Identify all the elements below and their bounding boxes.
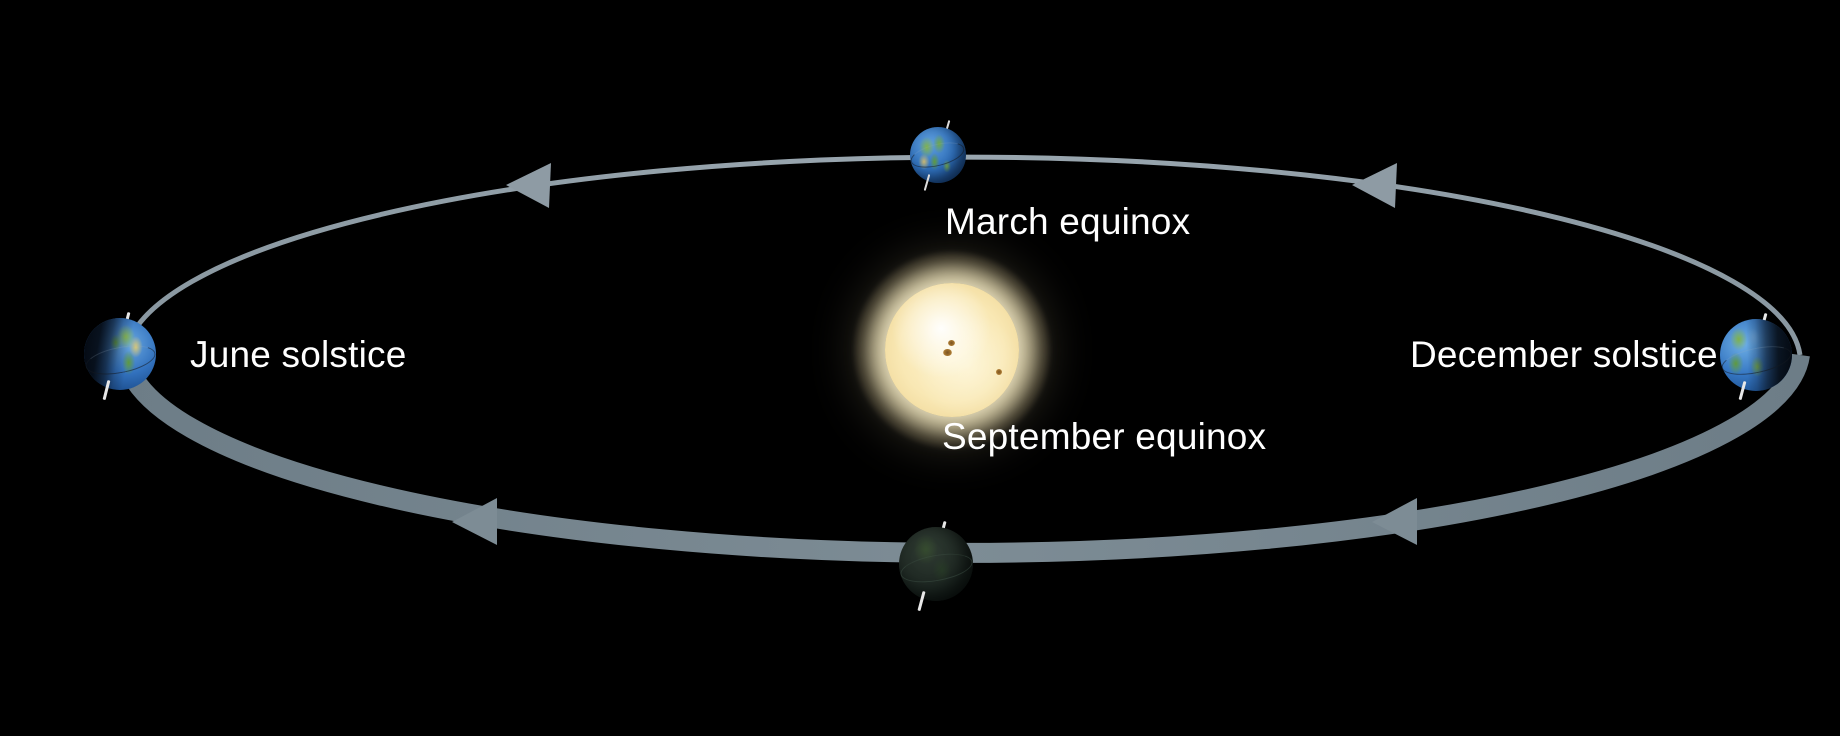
arrow-top-right-icon: [1352, 163, 1397, 208]
label-september-equinox: September equinox: [942, 418, 1266, 455]
sunspot: [948, 340, 955, 346]
sun-disc: [885, 283, 1019, 417]
earth-december-solstice: [1714, 313, 1798, 397]
arrow-bottom-right-icon: [1372, 498, 1417, 545]
earth-september-equinox: [893, 521, 979, 607]
label-june-solstice: June solstice: [190, 336, 407, 373]
orbit-diagram: March equinox September equinox June sol…: [0, 0, 1840, 736]
earth-march-equinox: [902, 119, 974, 191]
label-december-solstice: December solstice: [1410, 336, 1718, 373]
label-march-equinox: March equinox: [945, 203, 1190, 240]
sunspot: [943, 349, 952, 356]
sunspot: [996, 369, 1002, 375]
arrow-top-left-icon: [506, 163, 551, 208]
earth-june-solstice: [78, 312, 164, 398]
